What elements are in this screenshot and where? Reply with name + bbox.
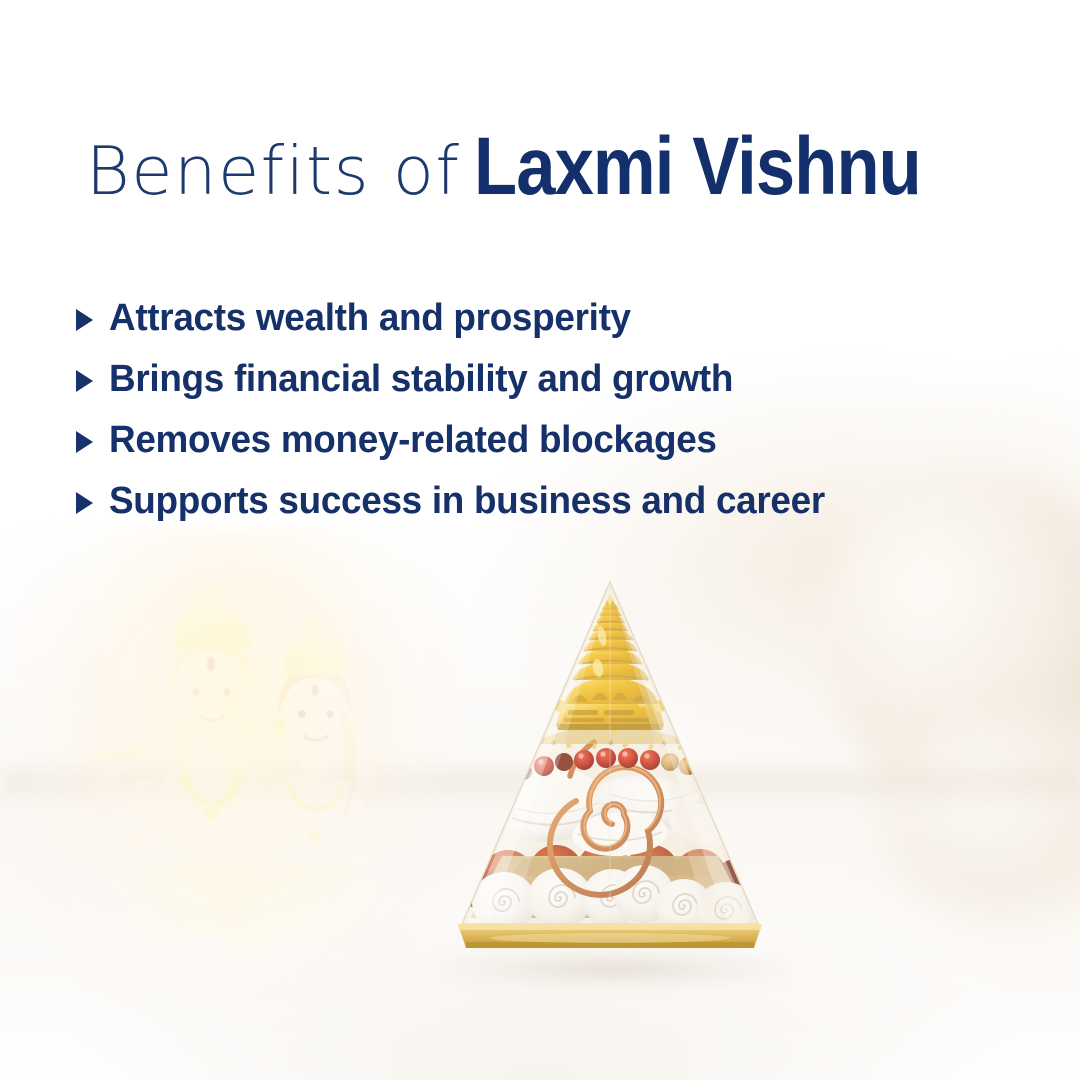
promo-banner: Benefits ofLaxmi Vishnu Attracts wealth … bbox=[0, 0, 1080, 1080]
triangle-right-icon bbox=[76, 492, 93, 514]
benefits-list: Attracts wealth and prosperity Brings fi… bbox=[76, 288, 976, 532]
page-title-bold: Laxmi Vishnu bbox=[474, 126, 921, 208]
benefit-label: Attracts wealth and prosperity bbox=[109, 297, 631, 340]
page-title-light: Benefits of bbox=[86, 132, 461, 210]
triangle-right-icon bbox=[76, 431, 93, 453]
laxmi-vishnu-orgone-pyramid bbox=[452, 576, 768, 986]
list-item: Brings financial stability and growth bbox=[76, 349, 976, 410]
triangle-right-icon bbox=[76, 370, 93, 392]
benefit-label: Brings financial stability and growth bbox=[109, 358, 733, 401]
lakshmi-vishnu-watermark bbox=[52, 566, 422, 1006]
list-item: Removes money-related blockages bbox=[76, 410, 976, 471]
list-item: Attracts wealth and prosperity bbox=[76, 288, 976, 349]
triangle-right-icon bbox=[76, 309, 93, 331]
benefit-label: Supports success in business and career bbox=[109, 480, 825, 523]
page-title: Benefits ofLaxmi Vishnu bbox=[0, 126, 1080, 208]
list-item: Supports success in business and career bbox=[76, 471, 976, 532]
benefit-label: Removes money-related blockages bbox=[109, 419, 717, 462]
